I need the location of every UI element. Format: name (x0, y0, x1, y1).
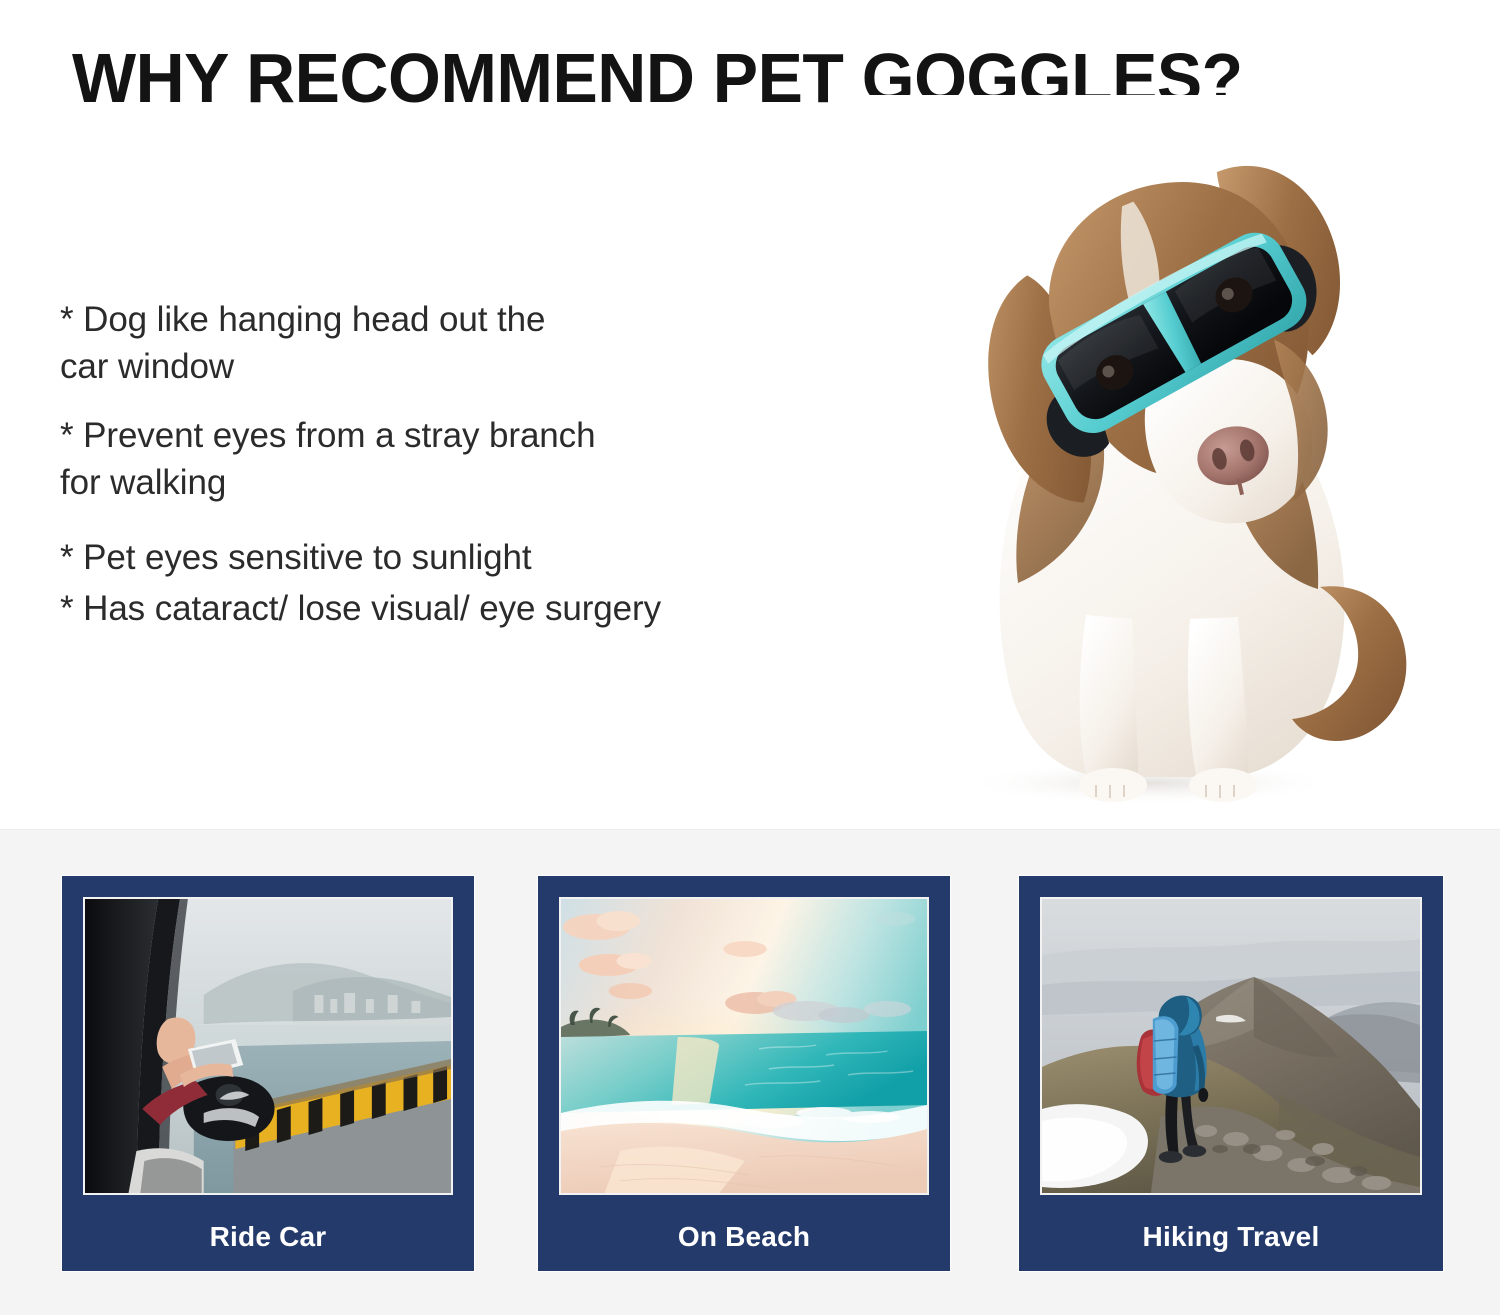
beach-sunset-icon (559, 897, 929, 1195)
product-infographic-page: WHY RECOMMEND PET GOGGLES? * Dog like ha… (0, 0, 1500, 1315)
usecase-label: Hiking Travel (1019, 1221, 1443, 1253)
mountain-hiker-icon (1040, 897, 1422, 1195)
list-item: * Has cataract/ lose visual/ eye surgery (60, 585, 820, 632)
usecase-card-on-beach[interactable]: On Beach (538, 876, 950, 1271)
car-window-icon (83, 897, 453, 1195)
top-section: WHY RECOMMEND PET GOGGLES? * Dog like ha… (0, 0, 1500, 829)
usecase-section: Ride Car (0, 829, 1500, 1315)
usecase-card-hiking-travel[interactable]: Hiking Travel (1019, 876, 1443, 1271)
list-item: * Pet eyes sensitive to sunlight (60, 534, 820, 581)
usecase-label: Ride Car (62, 1221, 474, 1253)
list-item: * Dog like hanging head out the car wind… (60, 296, 820, 390)
hero-dog-image (850, 95, 1450, 810)
usecase-label: On Beach (538, 1221, 950, 1253)
usecase-card-ride-car[interactable]: Ride Car (62, 876, 474, 1271)
benefits-list: * Dog like hanging head out the car wind… (60, 296, 820, 632)
list-item: * Prevent eyes from a stray branch for w… (60, 412, 820, 506)
